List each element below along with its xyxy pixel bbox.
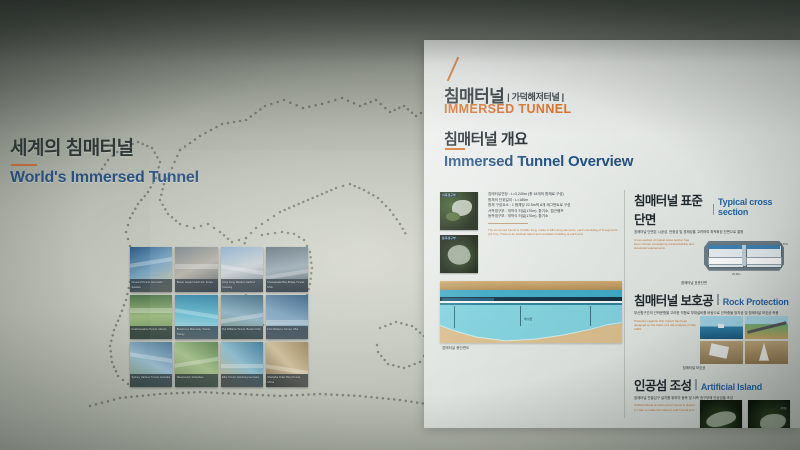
photo-caption: Ted Williams Tunnel, Boston USA	[221, 326, 263, 339]
photo-tile: Coatzacoalcos Tunnel, Mexico	[130, 295, 172, 340]
photo-caption: Chesapeake Bay Bridge-Tunnel, USA	[266, 279, 308, 292]
photo-tile: Fort McHenry Tunnel, USA	[266, 295, 308, 340]
rock-photo	[700, 341, 743, 364]
island-photo-row: 가덕도	[700, 400, 790, 428]
exhibition-wall-scene: 세계의 침매터널 World's Immersed Tunnel Oresund…	[0, 0, 800, 450]
photo-tile: Chesapeake Bay Bridge-Tunnel, USA	[266, 247, 308, 292]
section-heading: 침매터널 보호공 Rock Protection	[634, 290, 790, 309]
heading-divider	[717, 294, 719, 305]
section-rock-protection: 침매터널 보호공 Rock Protection 부산항구간의 선박운항을 고려…	[634, 290, 790, 370]
section-artificial-island: 인공섬 조성 Artificial Island 침매터널 진출입구 설치를 위…	[634, 375, 790, 428]
left-title-english: World's Immersed Tunnel	[10, 169, 199, 187]
photo-caption: Sydney Harbour Tunnel, Australia	[130, 374, 172, 387]
photo-caption: Busan Geoje Fixed Link, Korea	[175, 279, 217, 292]
section-heading: 침매터널 표준단면 Typical cross section	[634, 190, 790, 228]
satellite-image-west: 서측갱구부	[440, 192, 478, 230]
island-photo-east	[700, 400, 742, 428]
panel-subheader-english: Immersed Tunnel Overview	[444, 153, 633, 170]
spec-row: 서측갱구부 동측갱구부 침매터널연장 : L=3,240m (총 18개의 함체…	[440, 192, 622, 273]
satellite-label-west: 서측갱구부	[441, 193, 457, 197]
photo-tile: Maastunnel, Rotterdam	[175, 342, 217, 387]
photo-tile: Shanghai Outer Ring Tunnel, China	[266, 342, 308, 387]
photo-caption: Shanghai Outer Ring Tunnel, China	[266, 374, 308, 387]
spec-rule	[488, 223, 528, 224]
photo-tile: Ted Williams Tunnel, Boston USA	[221, 295, 263, 340]
photo-tile: Busan Geoje Fixed Link, Korea	[175, 247, 217, 292]
rock-protection-photo-grid	[700, 316, 788, 364]
section-heading-korean: 인공섬 조성	[634, 375, 691, 394]
panel-column-divider	[624, 190, 625, 418]
panel-header-english: IMMERSED TUNNEL	[444, 102, 572, 116]
section-description-english: Cross-section of typical cross section h…	[634, 238, 696, 251]
rock-photo	[700, 316, 743, 339]
panel-header-korean-sub: | 가덕해저터널 |	[507, 92, 564, 102]
section-caption: 침매터널 보호공	[634, 365, 754, 370]
panel-right-column: 침매터널 표준단면 Typical cross section 침매터널 단면은…	[634, 190, 790, 428]
artificial-island-images: 가덕도 동측갱구부 서측갱구부	[700, 400, 790, 428]
immersed-tunnel-info-panel: 침매터널| 가덕해저터널 | IMMERSED TUNNEL 침매터널 개요 I…	[424, 40, 800, 428]
rock-photo	[745, 316, 788, 339]
photo-tile: Hong Kong Western Harbour Crossing	[221, 247, 263, 292]
rock-photo	[745, 341, 788, 364]
accent-slash-icon	[447, 57, 459, 82]
section-heading: 인공섬 조성 Artificial Island	[634, 375, 790, 394]
world-tunnel-photo-grid: Oresund Tunnel, Denmark / SwedenBusan Ge…	[130, 247, 308, 387]
satellite-image-stack: 서측갱구부 동측갱구부	[440, 192, 478, 273]
island-photo-west: 가덕도	[748, 400, 790, 428]
satellite-label-east: 동측갱구부	[441, 236, 457, 240]
dimension-height: 9.97m	[781, 243, 788, 246]
left-title-rule	[11, 164, 37, 166]
tunnel-cross-section-diagram: 9.97m 26.46m	[700, 235, 788, 279]
dimension-width: 26.46m	[732, 273, 741, 276]
photo-caption: Maastunnel, Rotterdam	[175, 374, 217, 387]
section-heading-korean: 침매터널 보호공	[634, 290, 713, 309]
photo-caption: Oresund Tunnel, Denmark / Sweden	[130, 279, 172, 292]
spec-text-block: 침매터널연장 : L=3,240m (총 18개의 함체로 구성) 함체의 단위…	[483, 192, 622, 273]
photo-caption: Bosphorus Marmaray Tunnel, Turkey	[175, 326, 217, 339]
section-description-english: Artificial island at each end of tunnel …	[634, 403, 696, 411]
left-title-block: 세계의 침매터널 World's Immersed Tunnel	[10, 133, 199, 187]
longitudinal-section-diagram: 해수면	[440, 281, 622, 343]
heading-divider	[695, 379, 697, 390]
panel-subheader-korean: 침매터널 개요	[444, 128, 527, 149]
photo-tile: Oresund Tunnel, Denmark / Sweden	[130, 247, 172, 292]
photo-caption: Coatzacoalcos Tunnel, Mexico	[130, 326, 172, 339]
section-typical-cross-section: 침매터널 표준단면 Typical cross section 침매터널 단면은…	[634, 190, 790, 285]
photo-caption: Elbe Tunnel, Hamburg Germany	[221, 374, 263, 387]
section-heading-english: Rock Protection	[723, 297, 789, 307]
left-title-korean: 세계의 침매터널	[10, 133, 199, 160]
section-waterline-label: 해수면	[524, 317, 532, 321]
spec-text-english: The immersed tunnel is 3,240m long, made…	[488, 228, 622, 237]
section-heading-english: Artificial Island	[701, 382, 762, 392]
section-heading-english: Typical cross section	[718, 197, 790, 217]
panel-subheader-rule	[445, 148, 465, 150]
panel-left-column: 서측갱구부 동측갱구부 침매터널연장 : L=3,240m (총 18개의 함체…	[440, 192, 622, 351]
photo-tile: Elbe Tunnel, Hamburg Germany	[221, 342, 263, 387]
satellite-image-east: 동측갱구부	[440, 235, 478, 273]
spec-line: 동측갱구부 : 개착식 터널(170m), 환기소	[488, 214, 622, 220]
section-caption: 침매터널 표준단면	[634, 280, 754, 285]
longitudinal-section-caption: 침매터널 종단면도	[440, 346, 622, 351]
photo-tile: Bosphorus Marmaray Tunnel, Turkey	[175, 295, 217, 340]
photo-caption: Hong Kong Western Harbour Crossing	[221, 279, 263, 292]
section-heading-korean: 침매터널 표준단면	[634, 190, 709, 228]
photo-caption: Fort McHenry Tunnel, USA	[266, 326, 308, 339]
section-description-english: Protection against ship impact has been …	[634, 319, 696, 332]
heading-divider	[713, 204, 714, 215]
photo-tile: Sydney Harbour Tunnel, Australia	[130, 342, 172, 387]
